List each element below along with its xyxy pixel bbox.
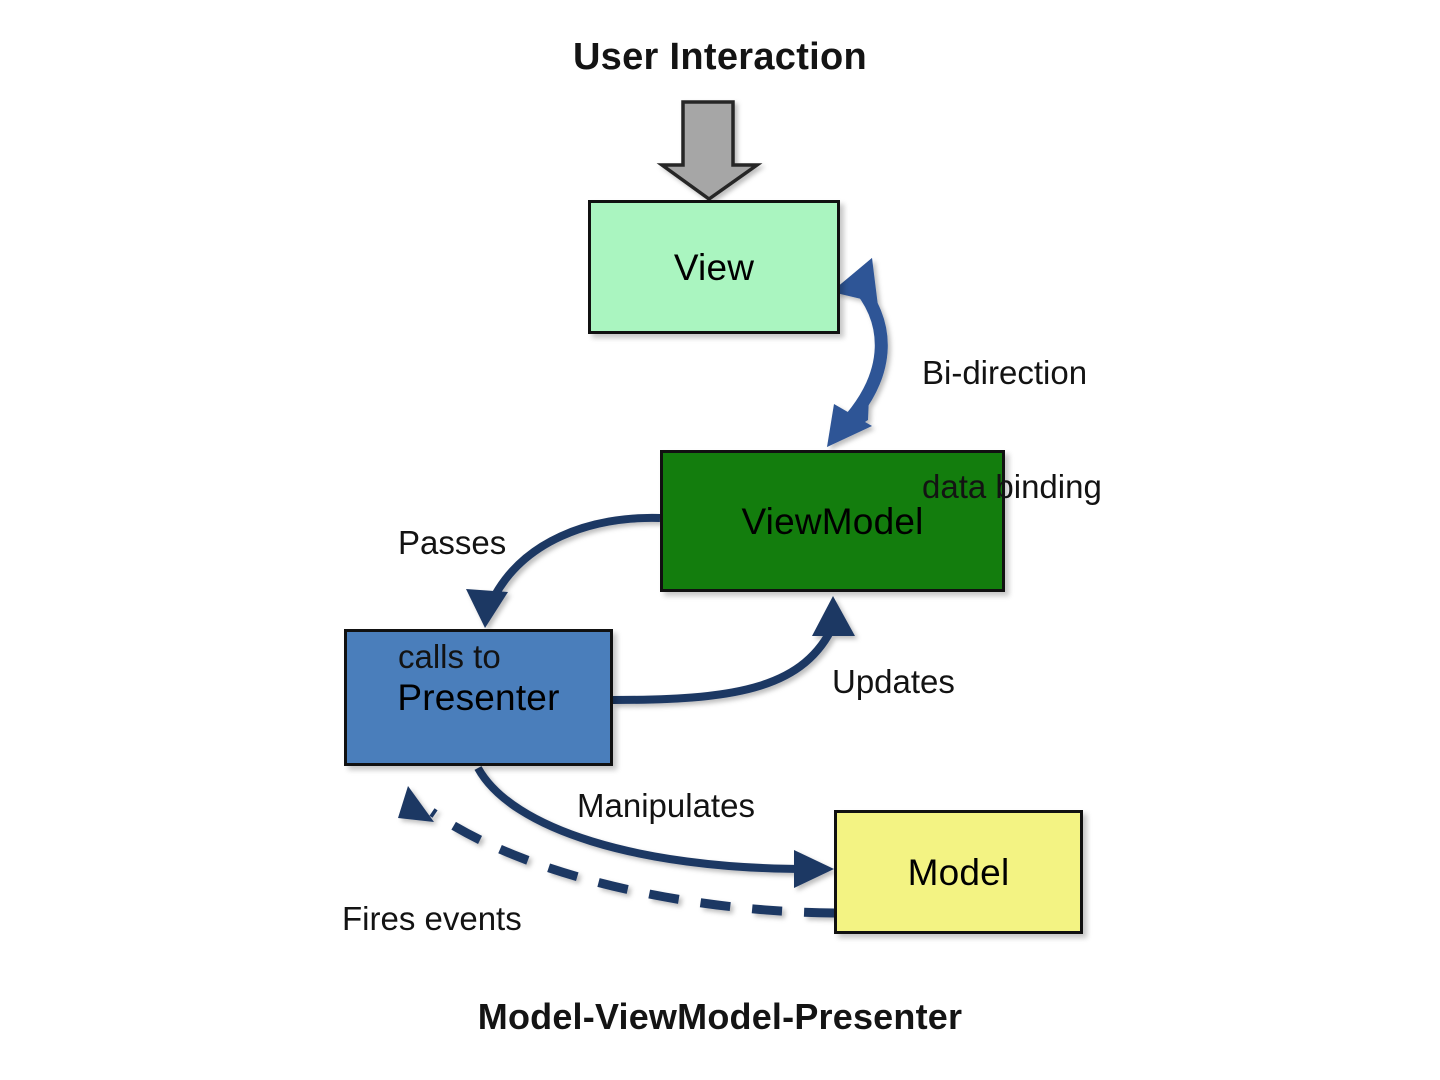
node-view[interactable]: View (588, 200, 840, 334)
edge-label-passes-line2: calls to (398, 638, 506, 676)
manipulates-arrow (478, 768, 834, 888)
edge-label-binding: Bi-direction data binding (922, 277, 1102, 583)
diagram-canvas: User Interaction (0, 0, 1440, 1080)
edge-label-fires-events: Fires events (342, 900, 522, 938)
node-viewmodel-label: ViewModel (741, 503, 923, 540)
node-model[interactable]: Model (834, 810, 1083, 934)
node-view-label: View (674, 249, 754, 286)
user-interaction-arrow (662, 102, 757, 199)
edge-label-manipulates: Manipulates (577, 787, 755, 825)
edge-label-passes-line1: Passes (398, 524, 506, 562)
updates-arrow (613, 596, 855, 700)
page-title: User Interaction (0, 36, 1440, 79)
edge-label-binding-line2: data binding (922, 468, 1102, 506)
edge-label-binding-line1: Bi-direction (922, 354, 1102, 392)
diagram-caption: Model-ViewModel-Presenter (0, 996, 1440, 1038)
node-model-label: Model (908, 854, 1010, 891)
edge-label-passes-calls-to: Passes calls to (398, 447, 506, 753)
edge-label-updates: Updates (832, 663, 955, 701)
